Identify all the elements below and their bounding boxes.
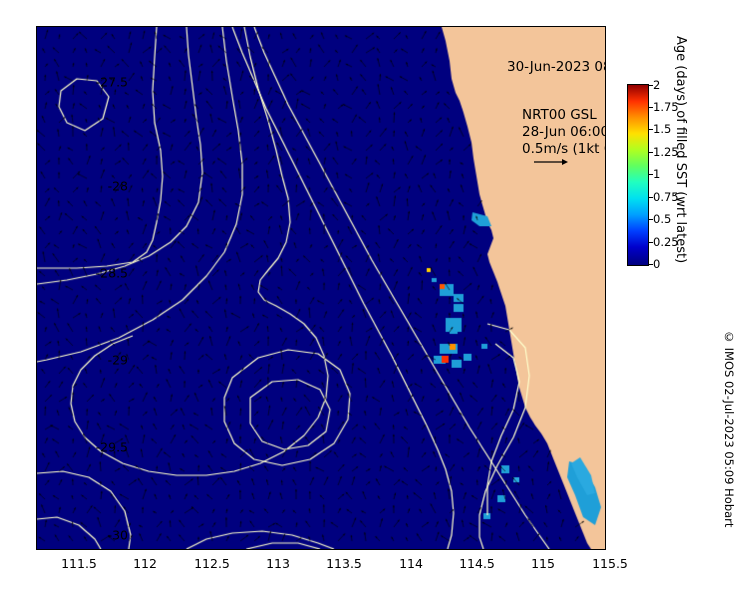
colorbar: 0 0.25 0.5 0.75 1 1.25 1.5 1.75 2	[627, 84, 649, 266]
ocean-field-canvas	[37, 27, 605, 549]
colorbar-title: Age (days) of filled SST (wrt latest)	[668, 36, 688, 286]
source-model-label: NRT00 GSL	[522, 107, 597, 123]
source-time-label: 28-Jun 06:00Z	[522, 124, 606, 140]
map-plot-area[interactable]: 30-Jun-2023 08Z NRT00 GSL 28-Jun 06:00Z …	[36, 26, 606, 550]
x-tick-label: 112.5	[194, 556, 230, 571]
x-tick-label: 113	[266, 556, 290, 571]
y-tick-label: -29.5	[96, 440, 128, 455]
x-tick-label: 111.5	[61, 556, 97, 571]
x-tick-label: 115.5	[592, 556, 628, 571]
y-tick-label: -28	[108, 179, 128, 194]
y-tick-label: -30	[108, 528, 128, 543]
x-tick-label: 115	[531, 556, 555, 571]
x-tick-label: 112	[133, 556, 157, 571]
sst-age-map-figure: 30-Jun-2023 08Z NRT00 GSL 28-Jun 06:00Z …	[0, 0, 740, 592]
x-tick-label: 114	[399, 556, 423, 571]
y-tick-label: -29	[108, 353, 128, 368]
x-tick-label: 114.5	[459, 556, 495, 571]
y-tick-label: -28.5	[96, 266, 128, 281]
credit-label: © IMOS 02-Jul-2023 05:09 Hobart	[722, 330, 736, 527]
colorbar-tick-label: 0	[653, 257, 660, 271]
velocity-scale-label: 0.5m/s (1kt 6h)	[522, 141, 606, 157]
colorbar-tick-label: 2	[653, 78, 660, 92]
colorbar-gradient	[627, 84, 649, 266]
velocity-scale-arrow-icon	[534, 157, 568, 167]
x-tick-label: 113.5	[326, 556, 362, 571]
date-label: 30-Jun-2023 08Z	[507, 59, 606, 75]
colorbar-tick-label: 1	[653, 167, 660, 181]
y-tick-label: -27.5	[96, 75, 128, 90]
